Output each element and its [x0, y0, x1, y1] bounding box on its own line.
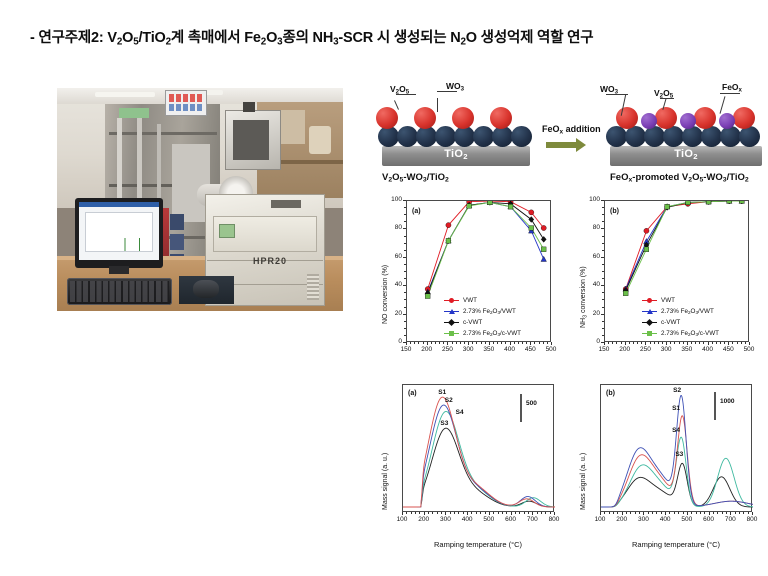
legend-marker	[449, 331, 454, 336]
y-minor-tick	[404, 236, 406, 237]
legend-line	[642, 311, 657, 312]
x-tick	[709, 512, 710, 515]
x-tick-label: 600	[501, 516, 521, 523]
x-minor-tick	[713, 512, 714, 514]
v2o5-ball	[376, 107, 398, 129]
tio2-label-right: TiO2	[610, 148, 762, 161]
y-minor-tick	[602, 236, 604, 237]
y-tick	[403, 228, 406, 229]
x-minor-tick	[418, 342, 419, 344]
x-minor-tick	[454, 512, 455, 514]
x-tick	[406, 342, 407, 345]
tio2-support-right: TiO2	[610, 146, 762, 166]
tio2-support-left: TiO2	[382, 146, 530, 166]
legend-item[interactable]: 2.73% Fe2O3/c-VWT	[642, 329, 719, 339]
y-tick	[601, 200, 604, 201]
y-tick-label: 80	[384, 224, 402, 231]
y-tick-label: 80	[582, 224, 600, 231]
chart-mass-signal-a: Mass signal (a. u.) (a) 500 100200300400…	[376, 378, 566, 570]
x-tick	[427, 342, 428, 345]
x-minor-tick	[485, 512, 486, 514]
x-tick-label: 500	[479, 516, 499, 523]
x-tick	[554, 512, 555, 515]
legend-label: VWT	[463, 297, 477, 304]
legend-item[interactable]: VWT	[444, 296, 521, 306]
legend-line	[444, 333, 459, 334]
wo3-ball	[473, 126, 494, 147]
legend-label: 2.73% Fe2O3/VWT	[661, 308, 714, 315]
legend-line	[642, 322, 657, 323]
x-minor-tick	[505, 342, 506, 344]
x-minor-tick	[669, 512, 670, 514]
x-minor-tick	[704, 512, 705, 514]
x-minor-tick	[720, 342, 721, 344]
x-minor-tick	[724, 342, 725, 344]
x-tick-label: 350	[479, 346, 499, 353]
y-axis-label: Mass signal (a. u.)	[382, 453, 389, 510]
y-minor-tick	[404, 214, 406, 215]
x-minor-tick	[493, 512, 494, 514]
peak-label: S2	[445, 397, 453, 404]
x-minor-tick	[745, 342, 746, 344]
x-minor-tick	[431, 342, 432, 344]
y-minor-tick	[602, 335, 604, 336]
wo3-ball	[454, 126, 475, 147]
x-minor-tick	[415, 512, 416, 514]
x-minor-tick	[612, 342, 613, 344]
x-tick	[489, 342, 490, 345]
peak-label: S4	[456, 409, 464, 416]
y-minor-tick	[404, 292, 406, 293]
x-minor-tick	[501, 342, 502, 344]
legend-item[interactable]: c-VWT	[444, 318, 521, 328]
y-minor-tick	[602, 243, 604, 244]
x-minor-tick	[695, 342, 696, 344]
x-minor-tick	[481, 342, 482, 344]
legend-item[interactable]: 2.73% Fe2O3/VWT	[642, 307, 719, 317]
legend-line	[444, 311, 459, 312]
x-tick-label: 500	[677, 516, 697, 523]
x-minor-tick	[450, 512, 451, 514]
x-minor-tick	[534, 342, 535, 344]
y-tick-label: 20	[582, 310, 600, 317]
x-tick	[622, 512, 623, 515]
x-minor-tick	[514, 342, 515, 344]
v2o5-ball	[655, 107, 677, 129]
wo3-ball	[378, 126, 399, 147]
y-tick	[601, 314, 604, 315]
x-minor-tick	[696, 512, 697, 514]
y-minor-tick	[404, 299, 406, 300]
x-minor-tick	[650, 342, 651, 344]
x-tick-label: 200	[414, 516, 434, 523]
x-tick-label: 300	[435, 516, 455, 523]
x-tick	[600, 512, 601, 515]
x-minor-tick	[518, 342, 519, 344]
x-tick-label: 250	[437, 346, 457, 353]
x-tick-label: 300	[656, 346, 676, 353]
wo3-ball	[644, 126, 665, 147]
legend-item[interactable]: 2.73% Fe2O3/c-VWT	[444, 329, 521, 339]
y-tick-label: 0	[582, 338, 600, 345]
panel-id: (b)	[610, 208, 619, 215]
x-minor-tick	[716, 342, 717, 344]
x-tick-label: 200	[615, 346, 635, 353]
x-tick	[468, 342, 469, 345]
v2o5-ball	[733, 107, 755, 129]
x-minor-tick	[456, 342, 457, 344]
x-minor-tick	[411, 512, 412, 514]
peak-label: S2	[673, 387, 681, 394]
x-tick	[728, 342, 729, 345]
x-tick-label: 300	[633, 516, 653, 523]
peak-label: S3	[675, 451, 683, 458]
x-minor-tick	[493, 342, 494, 344]
x-minor-tick	[515, 512, 516, 514]
y-minor-tick	[602, 292, 604, 293]
y-minor-tick	[602, 214, 604, 215]
y-minor-tick	[602, 221, 604, 222]
peak-label: S3	[440, 420, 448, 427]
x-minor-tick	[648, 512, 649, 514]
y-tick	[403, 285, 406, 286]
legend-line	[444, 322, 459, 323]
x-tick-label: 150	[594, 346, 614, 353]
x-tick	[645, 342, 646, 345]
y-minor-tick	[602, 207, 604, 208]
x-minor-tick	[741, 342, 742, 344]
x-minor-tick	[441, 512, 442, 514]
panel-id: (a)	[412, 208, 421, 215]
legend-marker	[449, 298, 454, 303]
x-tick	[532, 512, 533, 515]
x-minor-tick	[717, 512, 718, 514]
x-tick-label: 300	[458, 346, 478, 353]
peak-label: S4	[672, 427, 680, 434]
caption-right: FeOx-promoted V2O5-WO3/TiO2	[610, 172, 749, 184]
x-minor-tick	[458, 512, 459, 514]
v2o5-ball	[490, 107, 512, 129]
x-minor-tick	[464, 342, 465, 344]
x-tick	[666, 342, 667, 345]
tio2-label-left: TiO2	[382, 148, 530, 161]
x-tick	[643, 512, 644, 515]
x-minor-tick	[700, 512, 701, 514]
wo3-ball	[492, 126, 513, 147]
y-tick-label: 40	[582, 281, 600, 288]
x-minor-tick	[452, 342, 453, 344]
x-minor-tick	[699, 342, 700, 344]
x-minor-tick	[526, 342, 527, 344]
wo3-ball	[606, 126, 627, 147]
y-minor-tick	[404, 243, 406, 244]
y-minor-tick	[404, 307, 406, 308]
x-minor-tick	[460, 342, 461, 344]
x-minor-tick	[545, 512, 546, 514]
x-tick	[467, 512, 468, 515]
legend-line	[642, 333, 657, 334]
scale-bar-label: 1000	[720, 398, 734, 405]
chart-no-conversion: NO conversion (%) (a) 150200250300350400…	[376, 192, 566, 372]
x-minor-tick	[608, 342, 609, 344]
x-minor-tick	[726, 512, 727, 514]
x-minor-tick	[485, 342, 486, 344]
label-v2o5-left: V2O5	[390, 84, 409, 96]
x-tick-label: 400	[698, 346, 718, 353]
analyzer-model-label: HPR20	[253, 256, 287, 266]
legend-item[interactable]: 2.73% Fe2O3/VWT	[444, 307, 521, 317]
x-tick-label: 800	[544, 516, 564, 523]
y-minor-tick	[602, 278, 604, 279]
x-tick	[511, 512, 512, 515]
scale-bar	[714, 392, 716, 420]
y-tick	[403, 257, 406, 258]
arrow-label: FeOx addition	[542, 124, 601, 136]
x-tick-label: 350	[677, 346, 697, 353]
y-tick	[601, 257, 604, 258]
wo3-ball	[435, 126, 456, 147]
legend-marker	[647, 298, 652, 303]
x-tick	[708, 342, 709, 345]
x-tick-label: 200	[612, 516, 632, 523]
x-minor-tick	[547, 342, 548, 344]
x-tick-label: 400	[655, 516, 675, 523]
x-axis-label: Ramping temperature (°C)	[600, 540, 752, 549]
x-minor-tick	[670, 342, 671, 344]
wo3-ball	[720, 126, 741, 147]
caption-left: V2O5-WO3/TiO2	[382, 172, 449, 184]
x-minor-tick	[506, 512, 507, 514]
legend-line	[642, 300, 657, 301]
feox-ball	[719, 113, 735, 129]
x-minor-tick	[722, 512, 723, 514]
y-minor-tick	[602, 271, 604, 272]
panel-id: (b)	[606, 390, 615, 397]
y-tick-label: 100	[582, 196, 600, 203]
x-minor-tick	[737, 342, 738, 344]
ceiling-lamp	[95, 92, 155, 97]
x-minor-tick	[537, 512, 538, 514]
x-minor-tick	[406, 512, 407, 514]
x-tick	[424, 512, 425, 515]
x-minor-tick	[633, 342, 634, 344]
y-minor-tick	[404, 264, 406, 265]
x-minor-tick	[661, 512, 662, 514]
x-minor-tick	[641, 342, 642, 344]
x-axis-label: Ramping temperature (°C)	[402, 540, 554, 549]
x-tick	[489, 512, 490, 515]
x-tick	[749, 342, 750, 345]
legend-item[interactable]: VWT	[642, 296, 719, 306]
x-minor-tick	[658, 342, 659, 344]
feox-ball	[641, 113, 657, 129]
x-tick	[687, 512, 688, 515]
x-minor-tick	[471, 512, 472, 514]
x-minor-tick	[739, 512, 740, 514]
x-minor-tick	[639, 512, 640, 514]
x-minor-tick	[735, 512, 736, 514]
x-minor-tick	[629, 342, 630, 344]
y-tick-label: 0	[384, 338, 402, 345]
y-tick	[403, 200, 406, 201]
x-minor-tick	[679, 342, 680, 344]
x-minor-tick	[656, 512, 657, 514]
x-minor-tick	[414, 342, 415, 344]
x-minor-tick	[437, 512, 438, 514]
x-minor-tick	[743, 512, 744, 514]
y-minor-tick	[602, 264, 604, 265]
x-minor-tick	[703, 342, 704, 344]
x-minor-tick	[428, 512, 429, 514]
x-minor-tick	[621, 342, 622, 344]
x-tick	[752, 512, 753, 515]
computer-mouse	[193, 280, 219, 298]
y-tick-label: 60	[384, 253, 402, 260]
x-minor-tick	[541, 512, 542, 514]
x-tick	[445, 512, 446, 515]
legend-marker	[647, 309, 653, 314]
x-tick-label: 450	[718, 346, 738, 353]
x-minor-tick	[678, 512, 679, 514]
x-minor-tick	[443, 342, 444, 344]
x-minor-tick	[674, 512, 675, 514]
x-minor-tick	[502, 512, 503, 514]
x-tick-label: 150	[396, 346, 416, 353]
peak-label: S1	[438, 389, 446, 396]
chart-mass-signal-b: Mass signal (a. u.) (b) 1000 10020030040…	[574, 378, 764, 570]
x-minor-tick	[617, 512, 618, 514]
y-minor-tick	[404, 207, 406, 208]
x-minor-tick	[472, 342, 473, 344]
x-tick-label: 400	[457, 516, 477, 523]
y-minor-tick	[404, 271, 406, 272]
y-axis-label: NH3 conversion (%)	[580, 266, 588, 328]
chart-legend: VWT2.73% Fe2O3/VWTc-VWT2.73% Fe2O3/c-VWT	[444, 296, 521, 340]
x-minor-tick	[519, 512, 520, 514]
x-tick-label: 200	[417, 346, 437, 353]
v2o5-ball	[694, 107, 716, 129]
x-minor-tick	[498, 512, 499, 514]
y-tick-label: 60	[582, 253, 600, 260]
chart-nh3-conversion: NH3 conversion (%) (b) 15020025030035040…	[574, 192, 764, 372]
x-minor-tick	[524, 512, 525, 514]
x-minor-tick	[439, 342, 440, 344]
legend-label: 2.73% Fe2O3/VWT	[463, 308, 516, 315]
wo3-ball	[682, 126, 703, 147]
x-minor-tick	[423, 342, 424, 344]
x-minor-tick	[522, 342, 523, 344]
y-axis-label: Mass signal (a. u.)	[580, 453, 587, 510]
y-tick-label: 40	[384, 281, 402, 288]
catalyst-schematic: TiO2 V2O5 WO3 V2O5-WO3/TiO2	[374, 80, 766, 180]
x-tick	[510, 342, 511, 345]
x-minor-tick	[609, 512, 610, 514]
legend-item[interactable]: c-VWT	[642, 318, 719, 328]
x-minor-tick	[732, 342, 733, 344]
label-v2o5-right: V2O5	[654, 88, 673, 100]
y-minor-tick	[404, 328, 406, 329]
panel-id: (a)	[408, 390, 417, 397]
scale-bar	[520, 394, 522, 422]
x-minor-tick	[691, 342, 692, 344]
wo3-ball	[701, 126, 722, 147]
y-minor-tick	[602, 307, 604, 308]
x-minor-tick	[674, 342, 675, 344]
y-tick	[403, 314, 406, 315]
legend-marker	[646, 319, 653, 326]
x-tick-label: 450	[520, 346, 540, 353]
v2o5-ball	[414, 107, 436, 129]
x-minor-tick	[635, 512, 636, 514]
x-tick-label: 250	[635, 346, 655, 353]
x-tick	[447, 342, 448, 345]
x-minor-tick	[539, 342, 540, 344]
feox-ball	[680, 113, 696, 129]
x-minor-tick	[654, 342, 655, 344]
x-minor-tick	[528, 512, 529, 514]
y-tick	[601, 285, 604, 286]
y-tick-label: 20	[384, 310, 402, 317]
y-minor-tick	[404, 335, 406, 336]
x-tick	[402, 512, 403, 515]
x-tick-label: 500	[541, 346, 561, 353]
y-tick	[601, 342, 604, 343]
x-tick	[730, 512, 731, 515]
x-minor-tick	[626, 512, 627, 514]
wo3-ball	[511, 126, 532, 147]
y-minor-tick	[602, 250, 604, 251]
x-minor-tick	[616, 342, 617, 344]
v2o5-ball	[616, 107, 638, 129]
x-minor-tick	[683, 512, 684, 514]
x-minor-tick	[476, 512, 477, 514]
legend-marker	[448, 319, 455, 326]
x-tick-label: 100	[392, 516, 412, 523]
label-wo3-left: WO3	[446, 81, 464, 93]
y-minor-tick	[404, 221, 406, 222]
y-minor-tick	[602, 299, 604, 300]
legend-marker	[647, 331, 652, 336]
slide-canvas: - 연구주제2: V2O5/TiO2계 촉매에서 Fe2O3종의 NH3-SCR…	[0, 0, 768, 576]
x-minor-tick	[432, 512, 433, 514]
x-minor-tick	[480, 512, 481, 514]
wo3-ball	[397, 126, 418, 147]
legend-label: 2.73% Fe2O3/c-VWT	[661, 330, 719, 337]
x-minor-tick	[543, 342, 544, 344]
x-tick-label: 800	[742, 516, 762, 523]
x-tick-label: 500	[739, 346, 759, 353]
x-tick	[665, 512, 666, 515]
x-minor-tick	[476, 342, 477, 344]
wo3-ball	[739, 126, 760, 147]
x-tick-label: 400	[500, 346, 520, 353]
legend-marker	[449, 309, 455, 314]
y-tick-label: 100	[384, 196, 402, 203]
legend-label: c-VWT	[463, 319, 482, 326]
lab-photograph: HPR20	[57, 88, 343, 311]
x-minor-tick	[419, 512, 420, 514]
x-minor-tick	[410, 342, 411, 344]
x-tick	[625, 342, 626, 345]
x-tick	[551, 342, 552, 345]
x-tick-label: 700	[720, 516, 740, 523]
x-minor-tick	[463, 512, 464, 514]
y-minor-tick	[404, 321, 406, 322]
x-tick	[687, 342, 688, 345]
y-minor-tick	[602, 321, 604, 322]
scale-bar-label: 500	[526, 400, 537, 407]
v2o5-ball	[452, 107, 474, 129]
